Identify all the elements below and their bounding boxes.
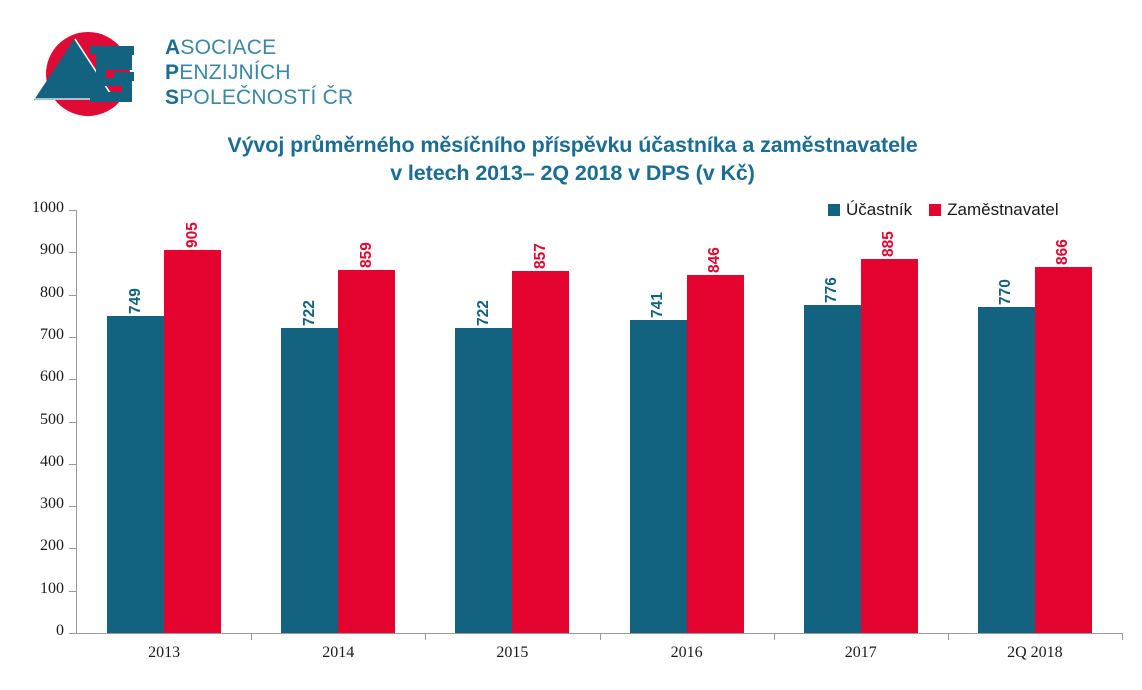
x-tick-mark (251, 633, 252, 640)
y-tick-mark (69, 548, 76, 549)
bar-value-text: 857 (532, 243, 550, 269)
y-tick-mark (69, 379, 76, 380)
bar-value-label: 859 (347, 220, 387, 264)
y-tick-mark (69, 506, 76, 507)
bar-employer[interactable] (164, 250, 221, 633)
bar-participant[interactable] (978, 307, 1035, 633)
bar-value-text: 776 (823, 277, 841, 303)
bar-value-text: 859 (358, 242, 376, 268)
bar-participant[interactable] (804, 305, 861, 633)
bar-value-text: 866 (1054, 239, 1072, 265)
bar-group: 722859 (251, 210, 425, 633)
x-tick-mark (774, 633, 775, 640)
y-tick-mark (69, 464, 76, 465)
y-tick-mark (69, 295, 76, 296)
bar-value-text: 846 (706, 247, 724, 273)
y-tick-label: 400 (40, 453, 64, 471)
bar-value-label: 905 (173, 200, 213, 244)
y-tick-mark (69, 210, 76, 211)
x-axis-label-2: 2014 (251, 644, 425, 662)
bar-employer[interactable] (1035, 267, 1092, 633)
y-tick-mark (69, 633, 76, 634)
x-tick-mark (1122, 633, 1123, 640)
bar-value-text: 885 (880, 231, 898, 257)
bar-participant[interactable] (630, 320, 687, 633)
plot-area: 749905722859722857741846776885770866 (77, 210, 1122, 633)
bar-value-label: 857 (521, 221, 561, 265)
bar-participant[interactable] (281, 328, 338, 633)
y-tick-label: 500 (40, 411, 64, 429)
bar-group: 741846 (600, 210, 774, 633)
y-tick-label: 700 (40, 326, 64, 344)
bar-group: 722857 (425, 210, 599, 633)
x-tick-mark (425, 633, 426, 640)
bar-value-text: 770 (997, 279, 1015, 305)
y-tick-label: 800 (40, 284, 64, 302)
bar-value-text: 741 (649, 292, 667, 318)
bar-value-label: 846 (695, 225, 735, 269)
y-tick-label: 300 (40, 495, 64, 513)
y-tick-label: 1000 (32, 199, 64, 217)
y-tick-label: 600 (40, 368, 64, 386)
y-tick-mark (69, 337, 76, 338)
y-tick-label: 200 (40, 537, 64, 555)
y-tick-label: 0 (56, 622, 64, 640)
bar-chart: 01002003004005006007008009001000 7499057… (0, 0, 1142, 690)
x-axis-label-4: 2016 (600, 644, 774, 662)
x-tick-mark (600, 633, 601, 640)
x-axis-label-1: 2013 (77, 644, 251, 662)
bar-value-text: 722 (301, 300, 319, 326)
bar-value-label: 885 (869, 209, 909, 253)
bar-value-label: 776 (812, 255, 852, 299)
x-axis-label-5: 2017 (774, 644, 948, 662)
y-tick-mark (69, 591, 76, 592)
bar-value-text: 749 (127, 288, 145, 314)
y-tick-label: 900 (40, 241, 64, 259)
bar-value-text: 905 (184, 222, 202, 248)
bar-value-label: 722 (290, 278, 330, 322)
y-tick-label: 100 (40, 580, 64, 598)
bar-employer[interactable] (687, 275, 744, 633)
bar-group: 776885 (774, 210, 948, 633)
bar-value-label: 741 (638, 270, 678, 314)
bar-employer[interactable] (861, 259, 918, 633)
bar-value-text: 722 (475, 300, 493, 326)
x-tick-mark (948, 633, 949, 640)
bar-group: 749905 (77, 210, 251, 633)
bar-employer[interactable] (338, 270, 395, 633)
bar-value-label: 770 (986, 257, 1026, 301)
bar-value-label: 722 (464, 278, 504, 322)
bar-value-label: 749 (116, 266, 156, 310)
bar-group: 770866 (948, 210, 1122, 633)
bar-employer[interactable] (512, 271, 569, 634)
bar-participant[interactable] (455, 328, 512, 633)
bar-participant[interactable] (107, 316, 164, 633)
y-tick-mark (69, 252, 76, 253)
bar-value-label: 866 (1043, 217, 1083, 261)
x-axis-label-3: 2015 (425, 644, 599, 662)
x-axis-label-6: 2Q 2018 (948, 644, 1122, 662)
y-tick-mark (69, 422, 76, 423)
